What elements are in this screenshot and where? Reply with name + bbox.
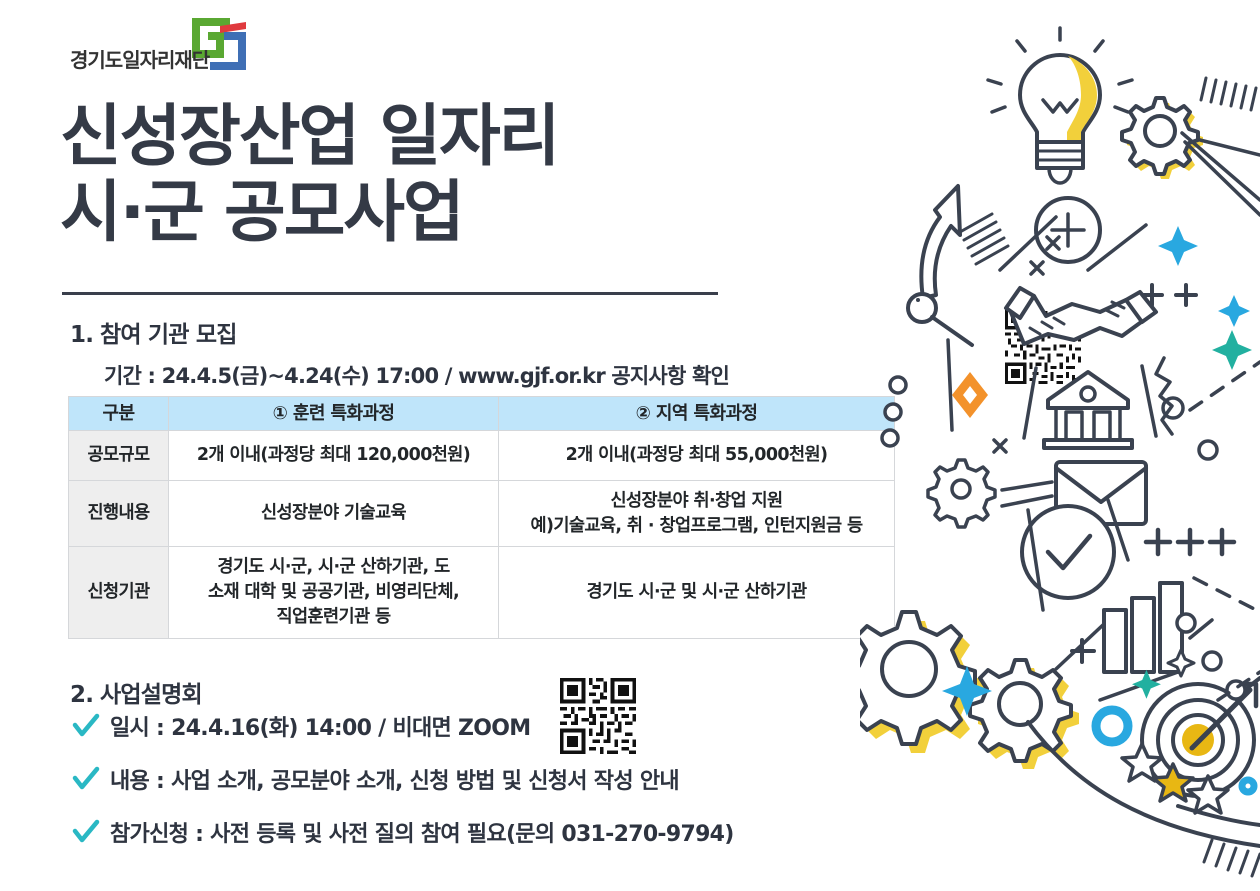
- plus-circle-icon: [1036, 198, 1100, 262]
- gear-icon: [928, 460, 995, 527]
- dashed-line: [1218, 672, 1260, 700]
- hatch-lines: [1204, 840, 1260, 876]
- list-item-label: 참가신청 : 사전 등록 및 사전 질의 참여 필요(문의 031-270-97…: [110, 816, 734, 848]
- row-applicant-col1-line2: 소재 대학 및 공공기관, 비영리단체,: [208, 582, 459, 602]
- cross-marks: [1031, 237, 1059, 274]
- hatch-lines: [960, 214, 1008, 264]
- cross-marks: [994, 440, 1006, 452]
- dashed-line: [1190, 362, 1260, 410]
- poster-root: 경기도일자리재단 신성장산업 일자리 시·군 공모사업 1.참여 기관 모집 기…: [0, 0, 1260, 891]
- organization-logo: 경기도일자리재단: [62, 16, 322, 86]
- sparkle-icon: [1212, 295, 1252, 370]
- section-2-heading: 2.사업설명회: [70, 675, 202, 709]
- row-applicant-col1-line1: 경기도 시·군, 시·군 산하기관, 도: [217, 557, 449, 577]
- list-item: 일시 : 24.4.16(화) 14:00 / 비대면 ZOOM: [72, 710, 530, 742]
- row-label-scale: 공모규모: [69, 431, 169, 481]
- row-content-col2-line1: 신성장분야 취·창업 지원: [610, 491, 782, 511]
- hatch-lines: [1201, 78, 1256, 110]
- check-icon: [72, 818, 100, 846]
- sparkle-icon: [942, 650, 1194, 716]
- table-row: 공모규모 2개 이내(과정당 최대 120,000천원) 2개 이내(과정당 최…: [69, 431, 895, 481]
- organization-logo-text: 경기도일자리재단: [70, 44, 209, 73]
- gear-icon: [1122, 98, 1203, 179]
- gear-icon: [970, 660, 1079, 769]
- arrow-up-icon: [908, 186, 972, 345]
- circle-icon: [1177, 441, 1245, 699]
- section-1-heading: 1.참여 기관 모집: [70, 315, 237, 349]
- table-row: 진행내용 신성장분야 기술교육 신성장분야 취·창업 지원 예)기술교육, 취 …: [69, 481, 895, 547]
- row-content-col2: 신성장분야 취·창업 지원 예)기술교육, 취 · 창업프로그램, 인턴지원금 …: [499, 481, 895, 547]
- decorative-illustration: [860, 0, 1260, 891]
- check-circle-icon: [1022, 506, 1114, 598]
- envelope-icon: [1056, 462, 1146, 524]
- program-table: 구분 ① 훈련 특화과정 ② 지역 특화과정 공모규모 2개 이내(과정당 최대…: [68, 396, 895, 639]
- dashed-line: [1194, 578, 1260, 612]
- seminar-qr-code[interactable]: [558, 678, 638, 754]
- list-item: 참가신청 : 사전 등록 및 사전 질의 참여 필요(문의 031-270-97…: [72, 816, 734, 848]
- table-header-cell-2: ② 지역 특화과정: [499, 397, 895, 431]
- table-header-cell-0: 구분: [69, 397, 169, 431]
- row-scale-col2: 2개 이내(과정당 최대 55,000천원): [499, 431, 895, 481]
- notice-qr-code[interactable]: [1002, 308, 1084, 384]
- target-icon: [1142, 678, 1260, 796]
- list-item-label: 내용 : 사업 소개, 공모분야 소개, 신청 방법 및 신청서 작성 안내: [110, 763, 679, 795]
- check-icon: [72, 765, 100, 793]
- row-applicant-col1: 경기도 시·군, 시·군 산하기관, 도 소재 대학 및 공공기관, 비영리단체…: [169, 547, 499, 639]
- title-line-1: 신성장산업 일자리: [60, 97, 558, 175]
- row-applicant-col1-line3: 직업훈련기관 등: [277, 607, 391, 627]
- row-content-col1: 신성장분야 기술교육: [169, 481, 499, 547]
- plus-marks: [1142, 285, 1196, 305]
- table-header-cell-1: ① 훈련 특화과정: [169, 397, 499, 431]
- title-line-2: 시·군 공모사업: [60, 174, 760, 250]
- plus-marks: [1146, 530, 1234, 554]
- row-applicant-col2: 경기도 시·군 및 시·군 산하기관: [499, 547, 895, 639]
- lightbulb-icon: [988, 28, 1132, 183]
- row-content-col2-line2: 예)기술교육, 취 · 창업프로그램, 인턴지원금 등: [530, 516, 862, 536]
- row-label-content: 진행내용: [69, 481, 169, 547]
- check-icon: [72, 712, 100, 740]
- section-2-number: 2.: [70, 682, 100, 708]
- star-icon: [1122, 744, 1228, 813]
- section-1-period: 기간 : 24.4.5(금)~4.24(수) 17:00 / www.gjf.o…: [104, 360, 729, 390]
- bar-chart-icon: [1072, 583, 1182, 672]
- table-row: 신청기관 경기도 시·군, 시·군 산하기관, 도 소재 대학 및 공공기관, …: [69, 547, 895, 639]
- section-2-title: 사업설명회: [100, 682, 202, 708]
- diamond-icon: [952, 372, 988, 418]
- section-1-number: 1.: [70, 322, 100, 348]
- row-label-applicant: 신청기관: [69, 547, 169, 639]
- sparkle-icon: [1158, 226, 1198, 266]
- title-divider: [62, 292, 718, 295]
- table-header-row: 구분 ① 훈련 특화과정 ② 지역 특화과정: [69, 397, 895, 431]
- section-1-title: 참여 기관 모집: [100, 322, 237, 348]
- row-scale-col1: 2개 이내(과정당 최대 120,000천원): [169, 431, 499, 481]
- list-item: 내용 : 사업 소개, 공모분야 소개, 신청 방법 및 신청서 작성 안내: [72, 763, 679, 795]
- list-item-label: 일시 : 24.4.16(화) 14:00 / 비대면 ZOOM: [110, 710, 530, 742]
- page-title: 신성장산업 일자리 시·군 공모사업: [60, 98, 760, 250]
